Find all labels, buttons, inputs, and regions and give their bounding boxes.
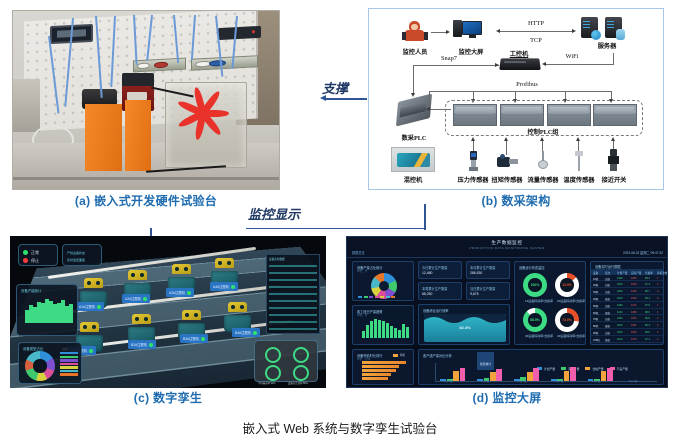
dashboard-ring-2: 13.5% bbox=[555, 273, 579, 297]
table-cell: 夜班 bbox=[605, 311, 610, 315]
link-http-arrowhead-right bbox=[572, 29, 576, 33]
table-cell: 1 bbox=[657, 304, 658, 307]
table-cell: 1042 bbox=[631, 297, 637, 300]
dashboard-hbar-card: 设备停机时长排行 单位：分钟 停机 bbox=[352, 349, 414, 385]
table-cell: 夜班 bbox=[605, 338, 610, 342]
twin-tag-6[interactable]: B2#注塑机 bbox=[128, 340, 156, 349]
twin-data-table: 设备实时数据 bbox=[266, 254, 320, 334]
table-cell: 白班 bbox=[605, 317, 610, 321]
table-cell: 1 bbox=[657, 311, 658, 314]
dashboard-rings-title: 设备运行状态监控 bbox=[519, 265, 545, 270]
twin-tag-4-label: A4#注塑机 bbox=[213, 284, 229, 289]
table-cell: 98.2 bbox=[645, 277, 650, 280]
twin-bar-chart bbox=[25, 291, 75, 323]
table-cell: 97.1 bbox=[645, 338, 650, 341]
table-cell: 白班 bbox=[605, 283, 610, 287]
sensor-arrow-2 bbox=[504, 137, 508, 141]
dashboard-table-card: 设备实时运行数据 设备 班次 计划产量 实际产量 合格率 停机次数 1#机白班1… bbox=[590, 261, 664, 345]
twin-tag-1[interactable]: A1#注塑机 bbox=[76, 302, 104, 311]
table-row[interactable]: 9#机白班1200118398.50 bbox=[591, 329, 663, 335]
dashboard-pie-card-sub: 单位：件 bbox=[357, 269, 367, 273]
dashboard-kpi-3-label: 本周累计生产数量 bbox=[422, 286, 448, 291]
panel-d-caption: (d) 监控大屏 bbox=[346, 389, 668, 406]
dashboard-wave-visual: 83.4% bbox=[424, 314, 506, 342]
node-flow-sensor-icon bbox=[537, 151, 549, 171]
link-http-arrowhead-left bbox=[496, 29, 500, 33]
twin-gauge-4 bbox=[293, 365, 309, 381]
link-snap7-arrowhead-down bbox=[411, 93, 415, 97]
dashboard-grouped-bar-xaxis: 1号产线2号产线3号产线4号产线5号产线6号产线 bbox=[435, 379, 657, 383]
dashboard-wave-card: 设备综合运行效率 83.4% bbox=[418, 304, 510, 345]
dashboard-kpi-3: 本周累计生产数量 68,250 bbox=[418, 282, 462, 300]
table-cell: 1200 bbox=[617, 331, 623, 334]
node-big-screen-icon bbox=[453, 19, 487, 41]
twin-pie-legend bbox=[60, 352, 78, 376]
connector-support-line bbox=[325, 98, 367, 100]
node-server-db-icon bbox=[605, 17, 622, 38]
node-temperature-sensor-icon bbox=[573, 151, 585, 171]
digital-twin-screen: A1#注塑机 A2#注塑机 A3#注塑机 A4#注塑机 B1#注塑机 B2#注塑… bbox=[10, 236, 326, 388]
dashboard-ring-1-value: 100% bbox=[523, 283, 547, 287]
twin-gauge-3 bbox=[265, 365, 281, 381]
node-operator-icon bbox=[403, 21, 427, 43]
link-profibus-label: Profibus bbox=[505, 81, 549, 88]
link-operator-arrowhead bbox=[446, 30, 450, 34]
panel-b-caption: (b) 数采架构 bbox=[368, 192, 664, 209]
table-cell: 98.0 bbox=[645, 311, 650, 314]
twin-tag-3-label: A3#注塑机 bbox=[169, 290, 185, 295]
link-wifi-label: WiFi bbox=[555, 53, 589, 60]
dashboard-kpi-1: 今日累计生产数量 12,480 bbox=[418, 261, 462, 279]
twin-tag-7[interactable]: B3#注塑机 bbox=[180, 334, 208, 343]
plc-group-label: 控制PLC组 bbox=[511, 127, 575, 136]
sensor-arrow-4 bbox=[576, 137, 580, 141]
table-cell: 3#机 bbox=[593, 290, 598, 294]
twin-tag-2[interactable]: A2#注塑机 bbox=[122, 294, 150, 303]
panel-c-digital-twin: A1#注塑机 A2#注塑机 A3#注塑机 A4#注塑机 B1#注塑机 B2#注塑… bbox=[10, 236, 326, 388]
table-cell: 1200 bbox=[617, 304, 623, 307]
dashboard-kpi-1-label: 今日累计生产数量 bbox=[422, 265, 448, 270]
table-row[interactable]: 7#机白班1200115496.82 bbox=[591, 316, 663, 322]
dashboard-screen: 生产数据监控 PRODUCTION DATA MONITORING CENTER… bbox=[346, 236, 668, 388]
table-cell: 白班 bbox=[605, 331, 610, 335]
table-cell: 95.4 bbox=[645, 324, 650, 327]
dashboard-wave-card-title: 设备综合运行效率 bbox=[423, 308, 449, 313]
table-cell: 1190 bbox=[631, 290, 636, 293]
grouped-bar-xtick: 1号产线 bbox=[444, 379, 453, 383]
table-row[interactable]: 3#机白班1200119098.70 bbox=[591, 289, 663, 295]
table-row[interactable]: 8#机夜班1100106195.44 bbox=[591, 323, 663, 329]
grouped-bar-xtick: 6号产线 bbox=[629, 379, 638, 383]
status-normal-dot bbox=[23, 250, 28, 255]
status-stopped-label: 停止 bbox=[31, 258, 39, 264]
table-cell: 夜班 bbox=[605, 324, 610, 328]
twin-gauge-label-2: 设备综合效率 88% bbox=[288, 381, 308, 385]
table-cell: 1061 bbox=[631, 324, 637, 327]
connector-display-label: 监控显示 bbox=[248, 204, 300, 223]
table-cell: 97.4 bbox=[645, 283, 650, 286]
dashboard-kpi-4-value: 9,675 bbox=[470, 292, 479, 296]
sensor-label-0: 混控机 bbox=[385, 175, 441, 184]
link-snap7-hline bbox=[413, 65, 499, 66]
photo-left-equipment bbox=[13, 79, 40, 132]
sensor-arrow-3 bbox=[540, 137, 544, 141]
status-stopped-dot bbox=[23, 258, 28, 263]
table-cell: 96.1 bbox=[645, 297, 650, 300]
table-cell: 3 bbox=[657, 297, 658, 300]
dashboard-clock: 2023-08-22 星期二 09:47:32 bbox=[623, 250, 663, 255]
figure-root: (a) 嵌入式开发硬件试验台 支撑 监控人员 bbox=[0, 0, 680, 445]
table-cell: 1200 bbox=[617, 290, 623, 293]
grouped-bar-xtick: 5号产线 bbox=[592, 379, 601, 383]
profibus-acq-arrowhead bbox=[426, 107, 430, 111]
twin-tag-3[interactable]: A3#注塑机 bbox=[166, 288, 194, 297]
hardware-testbench-photo bbox=[12, 10, 280, 190]
dashboard-wave-value: 83.4% bbox=[424, 325, 506, 330]
node-server-web-icon bbox=[581, 17, 598, 38]
dashboard-hbar-legend-label: 停机 bbox=[400, 353, 405, 357]
dashboard-kpi-4: 当日累计生产数量 9,675 bbox=[466, 282, 510, 300]
twin-pie-chart bbox=[25, 351, 55, 381]
table-cell: 夜班 bbox=[605, 297, 610, 301]
table-cell: 4#机 bbox=[593, 297, 598, 301]
table-cell: 1200 bbox=[617, 277, 623, 280]
twin-tag-8[interactable]: B4#注塑机 bbox=[232, 328, 260, 337]
link-snap7-vline bbox=[413, 65, 414, 95]
table-cell: 1070 bbox=[631, 338, 637, 341]
profibus-bus-line bbox=[429, 91, 611, 92]
table-cell: 1180 bbox=[631, 277, 636, 280]
table-cell: 0 bbox=[657, 331, 658, 334]
dashboard-pie-card: 设备产量占比统计 单位：件 bbox=[352, 261, 414, 301]
connector-display-vline bbox=[424, 204, 426, 230]
table-cell: 2 bbox=[657, 317, 658, 320]
wave-crest bbox=[424, 314, 506, 324]
link-http-label: HTTP bbox=[509, 20, 563, 27]
table-cell: 6#机 bbox=[593, 311, 598, 315]
sensor-arrow-5 bbox=[611, 137, 615, 141]
dashboard-kpi-2-value: 286,530 bbox=[470, 271, 482, 275]
sensor-arrow-1 bbox=[471, 137, 475, 141]
table-cell: 96.8 bbox=[645, 317, 650, 320]
node-acq-plc-label: 数采PLC bbox=[389, 133, 439, 142]
node-control-plc-2 bbox=[500, 104, 544, 126]
dashboard-kpi-3-value: 68,250 bbox=[422, 292, 432, 296]
table-cell: 1183 bbox=[631, 331, 636, 334]
table-cell: 1100 bbox=[617, 338, 622, 341]
table-cell: 1165 bbox=[631, 283, 636, 286]
table-cell: 白班 bbox=[605, 277, 610, 281]
table-cell: 5#机 bbox=[593, 304, 598, 308]
table-cell: 1100 bbox=[617, 297, 622, 300]
sensor-link-2 bbox=[506, 141, 507, 155]
table-cell: 1088 bbox=[631, 311, 637, 314]
node-control-plc-4 bbox=[593, 104, 637, 126]
dashboard-kpi-4-label: 当日累计生产数量 bbox=[470, 286, 496, 291]
node-torque-sensor-icon bbox=[497, 154, 519, 170]
twin-tag-4[interactable]: A4#注塑机 bbox=[210, 282, 238, 291]
twin-gauge-panel: 平均稼动率 92% 设备综合效率 88% bbox=[254, 340, 318, 382]
dashboard-grouped-bar-card: 各产线产量对比分析 按月统计 计划产量 实际产量 合格产量 不良产量 1号产线2… bbox=[418, 349, 664, 385]
grouped-bar-xtick: 4号产线 bbox=[555, 379, 564, 383]
table-cell: 1200 bbox=[617, 283, 623, 286]
photo-orange-bracket-2 bbox=[125, 100, 152, 171]
link-wifi-hline bbox=[545, 64, 614, 65]
node-control-plc-3 bbox=[547, 104, 591, 126]
dashboard-table-title: 设备实时运行数据 bbox=[595, 264, 621, 269]
table-cell: 1100 bbox=[617, 324, 622, 327]
photo-bench-edge bbox=[13, 177, 279, 180]
twin-tag-2-label: A2#注塑机 bbox=[125, 296, 141, 301]
dashboard-ring-3-value: 88.5% bbox=[523, 318, 547, 322]
dashboard-grouped-bar-title: 各产线产量对比分析 bbox=[423, 353, 452, 358]
twin-pie-card: 设备类型占比 bbox=[18, 342, 82, 384]
table-cell: 9#机 bbox=[593, 331, 598, 335]
node-proximity-switch-icon bbox=[607, 149, 620, 171]
table-row[interactable]: 10#机夜班1100107097.12 bbox=[591, 336, 663, 342]
dashboard-pie-legend bbox=[358, 296, 395, 299]
table-cell: 1 bbox=[657, 277, 658, 280]
twin-tag-1-label: A1#注塑机 bbox=[79, 304, 95, 309]
twin-status-legend: 正常 停止 bbox=[18, 244, 58, 266]
link-http-line bbox=[499, 31, 573, 32]
link-snap7-arrowhead-right bbox=[495, 63, 499, 67]
grouped-bar-xtick: 2号产线 bbox=[481, 379, 490, 383]
table-cell: 2 bbox=[657, 283, 658, 286]
table-cell: 0 bbox=[657, 290, 658, 293]
twin-bar-card: 设备产能统计 bbox=[16, 284, 78, 336]
sensor-label-5: 接近开关 bbox=[591, 175, 637, 184]
twin-info-hud: 产线设备状态 实时监控面板 bbox=[62, 244, 102, 266]
table-cell: 97.9 bbox=[645, 304, 650, 307]
connector-support-arrowhead bbox=[320, 95, 326, 101]
link-wifi-arrowhead bbox=[542, 62, 546, 66]
dashboard-kpi-1-value: 12,480 bbox=[422, 271, 432, 275]
dashboard-rings-card: 设备运行状态监控 100% 1#设备稼动率/合格率 13.5% 2#设备稼动率/… bbox=[514, 261, 586, 345]
table-cell: 1172 bbox=[631, 304, 636, 307]
table-cell: 1100 bbox=[617, 311, 622, 314]
table-row[interactable]: 5#机白班1200117297.91 bbox=[591, 302, 663, 308]
link-snap7-label: Snap7 bbox=[431, 55, 467, 62]
link-operator-to-screen bbox=[431, 32, 447, 33]
table-cell: 1#机 bbox=[593, 277, 598, 281]
twin-tag-6-label: B2#注塑机 bbox=[131, 342, 147, 347]
dashboard-ring-1: 100% bbox=[523, 273, 547, 297]
dashboard-kpi-2: 本月累计生产数量 286,530 bbox=[466, 261, 510, 279]
table-cell: 7#机 bbox=[593, 317, 598, 321]
table-cell: 10#机 bbox=[593, 338, 600, 342]
table-cell: 1154 bbox=[631, 317, 636, 320]
photo-acrylic-tank bbox=[165, 82, 247, 167]
dashboard-ring-4-value: 73.0% bbox=[555, 318, 579, 322]
table-cell: 白班 bbox=[605, 290, 610, 294]
panel-c-caption: (c) 数字孪生 bbox=[10, 389, 326, 406]
dashboard-nav-label[interactable]: 数据总览 bbox=[352, 250, 365, 255]
dashboard-ring-4: 73.0% bbox=[555, 308, 579, 332]
table-row[interactable]: 2#机白班1200116597.42 bbox=[591, 282, 663, 288]
table-cell: 4 bbox=[657, 324, 658, 327]
node-control-plc-1 bbox=[453, 104, 497, 126]
table-cell: 8#机 bbox=[593, 324, 598, 328]
panel-d-monitoring-dashboard: 生产数据监控 PRODUCTION DATA MONITORING CENTER… bbox=[346, 236, 668, 388]
table-cell: 2 bbox=[657, 338, 658, 341]
table-row[interactable]: 6#机夜班1100108898.01 bbox=[591, 309, 663, 315]
panel-a-hardware-testbench: (a) 嵌入式开发硬件试验台 bbox=[12, 10, 280, 190]
dashboard-bar-card: 各工段日产量趋势 单位：件 bbox=[352, 305, 414, 345]
dashboard-hbar-chart bbox=[362, 361, 410, 383]
twin-table-title: 设备实时数据 bbox=[269, 257, 285, 261]
dashboard-subtitle: PRODUCTION DATA MONITORING CENTER bbox=[347, 246, 667, 250]
dashboard-kpi-2-label: 本月累计生产数量 bbox=[470, 265, 496, 270]
panel-b-acquisition-architecture: 监控人员 监控大屏 HTTP TCP bbox=[368, 8, 664, 190]
node-mixer-icon bbox=[391, 147, 435, 172]
photo-orange-bracket-1 bbox=[85, 104, 122, 172]
table-cell: 2#机 bbox=[593, 283, 598, 287]
twin-tag-8-label: B4#注塑机 bbox=[235, 330, 251, 335]
grouped-bar-xtick: 3号产线 bbox=[518, 379, 527, 383]
dashboard-ring-3: 88.5% bbox=[523, 308, 547, 332]
twin-gauge-2 bbox=[293, 347, 309, 363]
link-tcp-label: TCP bbox=[509, 37, 563, 44]
architecture-diagram: 监控人员 监控大屏 HTTP TCP bbox=[368, 8, 664, 190]
node-ipc-icon bbox=[499, 58, 541, 70]
table-cell: 白班 bbox=[605, 304, 610, 308]
table-cell: 98.5 bbox=[645, 331, 650, 334]
node-ipc-label: 工控机 bbox=[497, 49, 541, 58]
dashboard-header: 生产数据监控 PRODUCTION DATA MONITORING CENTER… bbox=[347, 237, 667, 258]
dashboard-bar-chart bbox=[362, 314, 410, 338]
connector-display-line bbox=[246, 228, 426, 229]
dashboard-ring-2-value: 13.5% bbox=[555, 283, 579, 287]
table-row[interactable]: 4#机夜班1100104296.13 bbox=[591, 295, 663, 301]
twin-gauge-1 bbox=[265, 347, 281, 363]
twin-tag-7-label: B3#注塑机 bbox=[183, 336, 199, 341]
table-cell: 98.7 bbox=[645, 290, 650, 293]
node-server-label: 服务器 bbox=[583, 41, 631, 50]
node-pressure-sensor-icon bbox=[467, 151, 479, 171]
panel-a-caption: (a) 嵌入式开发硬件试验台 bbox=[12, 192, 280, 209]
table-cell: 1200 bbox=[617, 317, 623, 320]
figure-caption: 嵌入式 Web 系统与数字孪生试验台 bbox=[0, 418, 680, 437]
status-normal-label: 正常 bbox=[31, 250, 39, 256]
dashboard-hbar-legend: 停机 bbox=[393, 353, 405, 357]
twin-gauge-label-1: 平均稼动率 92% bbox=[258, 381, 275, 385]
table-row[interactable]: 1#机白班1200118098.21 bbox=[591, 275, 663, 281]
